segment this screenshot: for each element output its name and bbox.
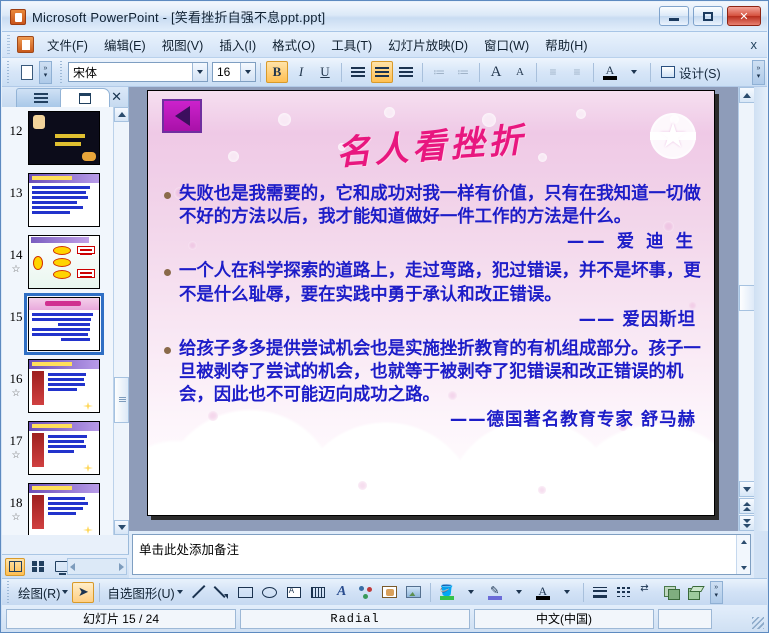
clipart-button[interactable] (379, 582, 401, 603)
slide-edit-area: ★ 名人看挫折 失败也是我需要的，它和成功对我一样有价值，只有在我知道一切做不好… (129, 87, 738, 531)
animation-star-icon: ☆ (4, 511, 28, 523)
decrease-font-size-button[interactable]: A (509, 61, 531, 83)
normal-view-icon (9, 561, 22, 572)
font-size-value: 16 (217, 65, 230, 79)
animation-star-icon: ☆ (4, 449, 28, 461)
panel-scroll-up-button[interactable] (114, 107, 129, 122)
clipart-icon (382, 586, 397, 598)
arrow-style-icon: ⇄ (640, 586, 655, 598)
menu-item-tools[interactable]: 工具(T) (323, 32, 380, 57)
font-size-dropdown-icon[interactable] (240, 63, 255, 81)
thumbnail-item-14[interactable]: 14 ☆ (2, 231, 129, 293)
scroll-thumb[interactable] (739, 285, 755, 311)
align-center-button[interactable] (371, 61, 393, 83)
drawing-font-color-icon: A (535, 585, 551, 600)
line-color-dropdown-icon[interactable] (508, 582, 530, 603)
thumbnail-number: 12 (4, 111, 28, 139)
textbox-icon (287, 587, 301, 598)
font-size-combo[interactable]: 16 (212, 62, 256, 82)
design-button[interactable]: 设计(S) (655, 61, 727, 84)
line-style-button[interactable] (589, 582, 611, 603)
next-slide-button[interactable] (739, 515, 755, 531)
dash-style-icon (617, 587, 631, 597)
dash-style-button[interactable] (613, 582, 635, 603)
drawing-toolbar: 绘图(R) ➤ 自选图形(U) A 🪣 (2, 578, 767, 605)
autoshapes-label: 自选图形(U) (107, 583, 174, 602)
close-button[interactable]: ✕ (727, 6, 761, 26)
maximize-button[interactable] (693, 6, 723, 26)
italic-button[interactable]: I (290, 61, 312, 83)
drawing-font-color-button[interactable]: A (532, 582, 554, 603)
thumbnail-preview[interactable] (28, 483, 100, 535)
shadow-icon (664, 586, 679, 599)
font-name-combo[interactable]: 宋体 (68, 62, 208, 82)
close-document-button[interactable]: x (751, 37, 758, 52)
powerpoint-window: Microsoft PowerPoint - [笑看挫折自强不息ppt.ppt]… (0, 0, 769, 633)
notes-scrollbar[interactable] (736, 535, 750, 574)
right-gutter (754, 87, 769, 531)
toolbar-overflow-2[interactable]: »▾ (752, 60, 765, 85)
panel-tabs: ✕ (2, 87, 128, 107)
oval-icon (262, 587, 277, 598)
document-icon (17, 36, 34, 53)
menu-item-file[interactable]: 文件(F) (39, 32, 96, 57)
thumbnail-number: 18 ☆ (4, 483, 28, 523)
panel-scroll-thumb[interactable] (114, 377, 129, 423)
bubble-decor (358, 481, 367, 490)
powerpoint-app-icon (10, 9, 26, 25)
bullet-dot-icon (164, 347, 171, 354)
thumbnail-number-text: 17 (10, 433, 23, 448)
draw-menu-label: 绘图(R) (18, 583, 60, 602)
slide-indicator: 幻灯片 15 / 24 (6, 609, 236, 629)
minimize-icon (669, 18, 679, 21)
thumbnail-preview[interactable] (28, 421, 100, 475)
status-extra-cell (658, 609, 712, 629)
thumbnail-item-18[interactable]: 18 ☆ (2, 479, 129, 535)
increase-font-size-button[interactable]: A (485, 61, 507, 83)
diagram-button[interactable] (355, 582, 377, 603)
new-slide-icon[interactable] (16, 61, 38, 83)
view-buttons-bar (2, 554, 129, 578)
rectangle-icon (238, 587, 253, 598)
thumbnail-item-16[interactable]: 16 ☆ (2, 355, 129, 417)
notes-placeholder: 单击此处添加备注 (139, 543, 239, 557)
maximize-icon (703, 12, 713, 21)
menu-item-help[interactable]: 帮助(H) (537, 32, 595, 57)
thumbnail-number: 15 (4, 297, 28, 325)
slide-sorter-icon (32, 561, 44, 572)
picture-icon (406, 586, 421, 598)
attribution-3: ——德国著名教育专家 舒马赫 (164, 409, 696, 432)
thumbnail-preview[interactable] (28, 111, 100, 165)
back-navigation-button[interactable] (162, 99, 202, 133)
normal-view-button[interactable] (5, 558, 25, 576)
decrease-indent-button[interactable]: ≡ (542, 61, 564, 83)
status-bar: 幻灯片 15 / 24 Radial 中文(中国) (2, 605, 767, 632)
menu-item-format[interactable]: 格式(O) (264, 32, 323, 57)
thumbnail-item-17[interactable]: 17 ☆ (2, 417, 129, 479)
shadow-style-button[interactable] (661, 582, 683, 603)
line-color-icon: ✎ (487, 585, 503, 600)
window-controls: ✕ (659, 6, 761, 26)
menu-item-slideshow[interactable]: 幻灯片放映(D) (380, 32, 476, 57)
line-style-icon (593, 587, 607, 598)
toolbar-grip-handle-1[interactable] (5, 61, 12, 83)
wordart-icon: A (337, 584, 346, 600)
thumbnail-number-text: 16 (10, 371, 23, 386)
thumbnail-list[interactable]: 12 13 14 ☆ (2, 107, 129, 535)
fill-color-icon: 🪣 (439, 585, 455, 600)
increase-indent-button[interactable]: ≡ (566, 61, 588, 83)
thumbnail-number: 14 ☆ (4, 235, 28, 275)
notes-pane[interactable]: 单击此处添加备注 (132, 534, 751, 575)
bullets-button[interactable]: ≔ (452, 61, 474, 83)
bullet-dot-icon (164, 269, 171, 276)
slide-title[interactable]: 名人看挫折 (147, 99, 715, 187)
notes-pane-wrapper: 单击此处添加备注 (129, 531, 754, 578)
notes-scroll-up-button[interactable] (737, 535, 751, 548)
notes-scroll-down-button[interactable] (737, 561, 751, 574)
thumbnail-number: 16 ☆ (4, 359, 28, 399)
tab-slides[interactable] (60, 88, 110, 107)
align-left-button[interactable] (347, 61, 369, 83)
menu-item-insert[interactable]: 插入(I) (211, 32, 264, 57)
picture-button[interactable] (403, 582, 425, 603)
thumbnail-number-text: 15 (10, 309, 23, 324)
line-color-button[interactable]: ✎ (484, 582, 506, 603)
thumbnail-number: 13 (4, 173, 28, 201)
thumbnail-item-12[interactable]: 12 (2, 107, 129, 169)
previous-slide-button[interactable] (739, 498, 755, 514)
menu-grip-handle[interactable] (5, 35, 15, 55)
fill-color-dropdown-icon[interactable] (460, 582, 482, 603)
language-indicator: 中文(中国) (474, 609, 654, 629)
underline-button[interactable]: U (314, 61, 336, 83)
oval-tool-button[interactable] (259, 582, 281, 603)
drawing-toolbar-overflow[interactable]: »▾ (710, 581, 723, 604)
diagram-icon (359, 586, 372, 599)
design-label: 设计(S) (679, 63, 721, 82)
thumbnail-preview[interactable] (28, 359, 100, 413)
vertical-textbox-button[interactable] (307, 582, 329, 603)
bullet-dot-icon (164, 192, 171, 199)
panel-close-button[interactable]: ✕ (111, 89, 122, 105)
attribution-1: —— 爱 迪 生 (164, 231, 696, 254)
toolbar-overflow-1[interactable]: »▾ (39, 61, 52, 84)
numbering-button[interactable]: ≔ (428, 61, 450, 83)
menu-item-window[interactable]: 窗口(W) (476, 32, 537, 57)
thumbnail-preview[interactable] (28, 173, 100, 227)
vertical-textbox-icon (311, 587, 325, 598)
rectangle-tool-button[interactable] (235, 582, 257, 603)
scroll-down-button[interactable] (739, 481, 755, 497)
line-tool-button[interactable] (187, 582, 209, 603)
slide-vertical-scrollbar[interactable] (738, 87, 754, 531)
arrow-style-button[interactable]: ⇄ (637, 582, 659, 603)
animation-star-icon: ☆ (4, 263, 28, 275)
window-title: Microsoft PowerPoint - [笑看挫折自强不息ppt.ppt] (32, 7, 325, 26)
bubble-decor (384, 107, 395, 118)
design-icon (661, 66, 675, 78)
menu-bar: 文件(F) 编辑(E) 视图(V) 插入(I) 格式(O) 工具(T) 幻灯片放… (2, 32, 767, 58)
font-name-dropdown-icon[interactable] (192, 63, 207, 81)
draw-menu-button[interactable]: 绘图(R) (15, 583, 71, 602)
wordart-button[interactable]: A (331, 582, 353, 603)
tab-outline[interactable] (16, 88, 66, 107)
panel-horizontal-scrollbar[interactable] (67, 558, 127, 575)
menu-item-edit[interactable]: 编辑(E) (96, 32, 154, 57)
back-arrow-icon (175, 106, 190, 126)
select-objects-button[interactable]: ➤ (72, 582, 94, 603)
minimize-button[interactable] (659, 6, 689, 26)
title-bar: Microsoft PowerPoint - [笑看挫折自强不息ppt.ppt]… (2, 2, 767, 32)
design-template-name: Radial (240, 609, 470, 629)
fill-color-button[interactable]: 🪣 (436, 582, 458, 603)
font-color-dropdown-icon[interactable] (623, 61, 645, 83)
animation-star-icon: ☆ (4, 387, 28, 399)
bullet-paragraph-1[interactable]: 失败也是我需要的，它和成功对我一样有价值，只有在我知道一切做不好的方法以后，我才… (164, 183, 702, 229)
thumbnail-number-text: 18 (10, 495, 23, 510)
paragraph-text: 给孩子多多提供尝试机会也是实施挫折教育的有机组成部分。孩子一旦被剥夺了尝试的机会… (179, 338, 702, 407)
panel-scroll-down-button[interactable] (114, 520, 129, 535)
slides-panel: ✕ 12 13 14 ☆ (2, 87, 129, 554)
slide-body-placeholder[interactable]: 失败也是我需要的，它和成功对我一样有价值，只有在我知道一切做不好的方法以后，我才… (164, 183, 702, 438)
line-icon (191, 585, 205, 599)
bullet-paragraph-3[interactable]: 给孩子多多提供尝试机会也是实施挫折教育的有机组成部分。孩子一旦被剥夺了尝试的机会… (164, 338, 702, 407)
threed-icon (688, 586, 703, 599)
thumbnail-number: 17 ☆ (4, 421, 28, 461)
toolbar-grip-handle-2[interactable] (58, 61, 65, 83)
font-color-letter: A (606, 65, 615, 76)
scroll-left-icon[interactable] (70, 563, 75, 571)
autoshapes-menu-button[interactable]: 自选图形(U) (104, 583, 185, 602)
arrow-tool-button[interactable] (211, 582, 233, 603)
outline-icon (34, 93, 48, 104)
resize-grip[interactable] (752, 617, 764, 629)
slide-sorter-view-button[interactable] (28, 558, 48, 576)
textbox-tool-button[interactable] (283, 582, 305, 603)
bubble-decor (278, 113, 291, 126)
thumbnail-preview[interactable] (28, 235, 100, 289)
paragraph-text: 一个人在科学探索的道路上，走过弯路，犯过错误，并不是坏事，更不是什么耻辱，要在实… (179, 260, 702, 306)
drawing-font-color-dropdown-icon[interactable] (556, 582, 578, 603)
bubble-decor (538, 486, 546, 494)
thumbnail-preview-current[interactable] (28, 297, 100, 351)
bold-button[interactable]: B (266, 61, 288, 83)
menu-item-view[interactable]: 视图(V) (154, 32, 212, 57)
thumbnail-number-text: 14 (10, 247, 23, 262)
align-right-button[interactable] (395, 61, 417, 83)
scroll-right-icon[interactable] (119, 563, 124, 571)
panel-scrollbar[interactable] (113, 107, 128, 535)
3d-style-button[interactable] (685, 582, 707, 603)
paragraph-text: 失败也是我需要的，它和成功对我一样有价值，只有在我知道一切做不好的方法以后，我才… (179, 183, 702, 229)
arrow-icon (215, 585, 229, 599)
scroll-up-button[interactable] (739, 87, 755, 103)
font-name-value: 宋体 (73, 64, 97, 81)
formatting-toolbar: »▾ 宋体 16 B I U ≔ ≔ A A ≡ ≡ (2, 58, 767, 87)
slides-icon (79, 93, 91, 104)
bullet-paragraph-2[interactable]: 一个人在科学探索的道路上，走过弯路，犯过错误，并不是坏事，更不是什么耻辱，要在实… (164, 260, 702, 306)
font-color-button[interactable]: A (599, 61, 621, 83)
current-slide[interactable]: ★ 名人看挫折 失败也是我需要的，它和成功对我一样有价值，只有在我知道一切做不好… (147, 90, 715, 516)
cursor-arrow-icon: ➤ (78, 584, 89, 600)
thumbnail-item-15[interactable]: 15 (2, 293, 129, 355)
attribution-2: —— 爱因斯坦 (164, 309, 696, 332)
drawing-toolbar-grip[interactable] (5, 581, 12, 603)
slide-show-icon (55, 561, 68, 572)
thumbnail-item-13[interactable]: 13 (2, 169, 129, 231)
